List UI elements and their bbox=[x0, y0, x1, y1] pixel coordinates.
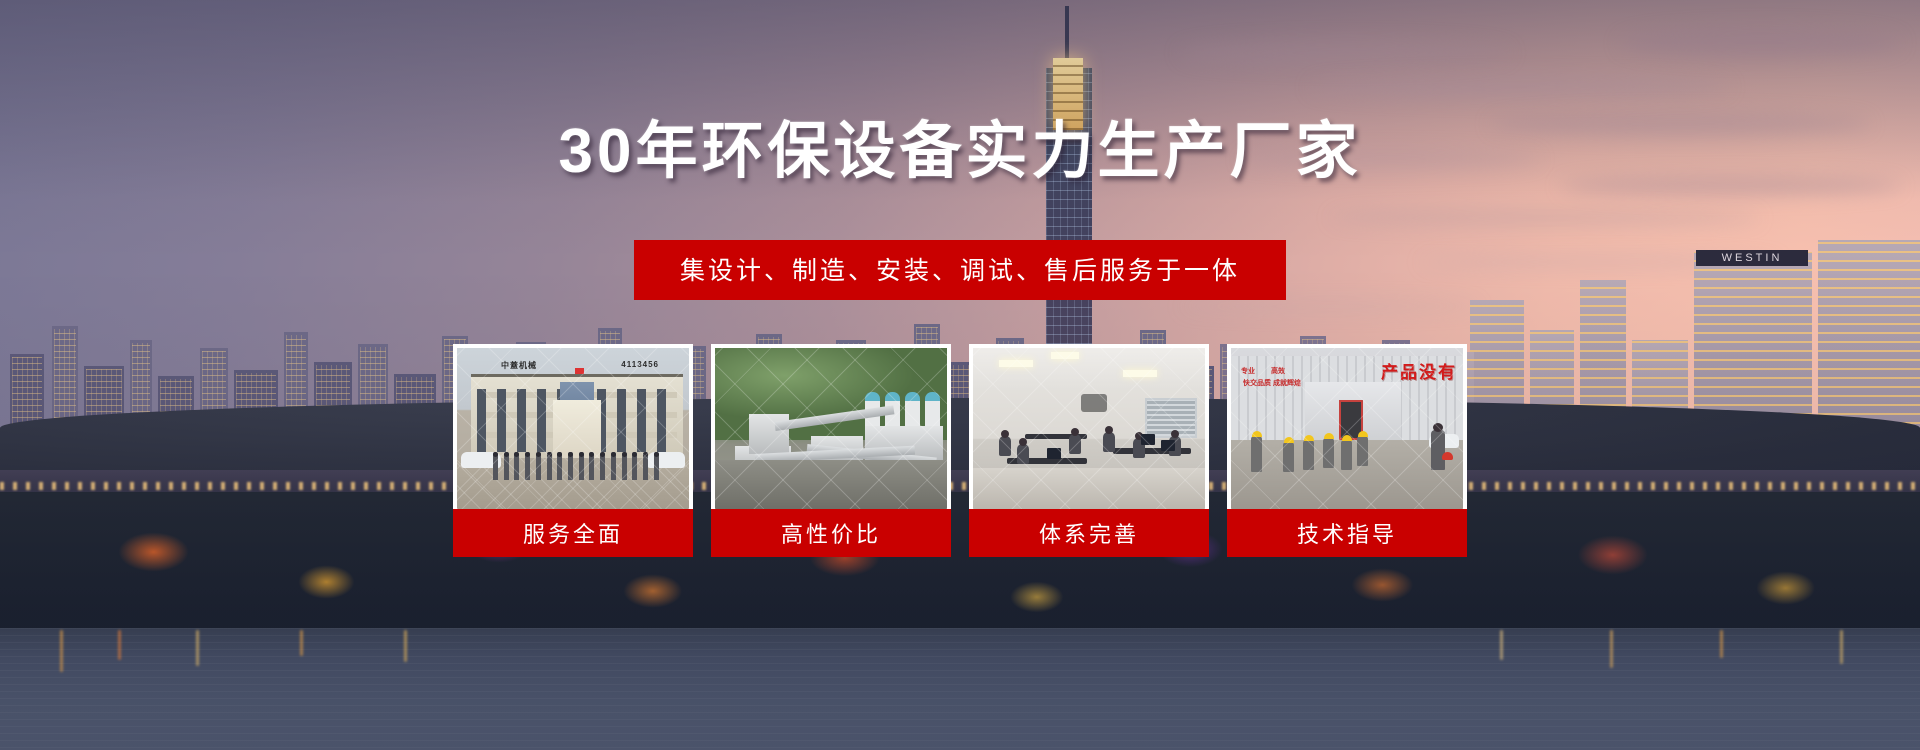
feature-card[interactable]: 高性价比 bbox=[711, 344, 951, 557]
factory-wall-slogan: 产品没有 bbox=[1381, 358, 1457, 383]
card-photo-workers: 产品没有 专业 高效 快交品质 成就辉煌 bbox=[1227, 344, 1467, 509]
factory-wall-small-text: 快交品质 bbox=[1243, 378, 1271, 388]
card-label: 服务全面 bbox=[453, 509, 693, 557]
banner-headline: 30年环保设备实力生产厂家 bbox=[0, 100, 1920, 190]
card-photo-office bbox=[969, 344, 1209, 509]
banner-subtitle-bar: 集设计、制造、安装、调试、售后服务于一体 bbox=[634, 240, 1286, 300]
feature-card-list: 中蓋机械 4113456 服务全面 bbox=[453, 344, 1467, 557]
card-label: 技术指导 bbox=[1227, 509, 1467, 557]
building-sign-text: 中蓋机械 bbox=[501, 360, 537, 371]
feature-card[interactable]: 体系完善 bbox=[969, 344, 1209, 557]
feature-card[interactable]: 产品没有 专业 高效 快交品质 成就辉煌 bbox=[1227, 344, 1467, 557]
hero-banner: WESTIN 30年环保设备实力生产厂家 集设计、制造、安装、调试、售后服务于一… bbox=[0, 0, 1920, 750]
factory-wall-small-text: 成就辉煌 bbox=[1273, 378, 1301, 388]
factory-wall-small-text: 专业 bbox=[1241, 366, 1255, 376]
card-photo-plant bbox=[711, 344, 951, 509]
factory-wall-small-text: 高效 bbox=[1271, 366, 1285, 376]
building-phone-text: 4113456 bbox=[621, 360, 659, 369]
card-label: 高性价比 bbox=[711, 509, 951, 557]
card-label: 体系完善 bbox=[969, 509, 1209, 557]
card-photo-headquarters: 中蓋机械 4113456 bbox=[453, 344, 693, 509]
banner-content: 30年环保设备实力生产厂家 集设计、制造、安装、调试、售后服务于一体 中蓋机械 … bbox=[0, 0, 1920, 750]
feature-card[interactable]: 中蓋机械 4113456 服务全面 bbox=[453, 344, 693, 557]
